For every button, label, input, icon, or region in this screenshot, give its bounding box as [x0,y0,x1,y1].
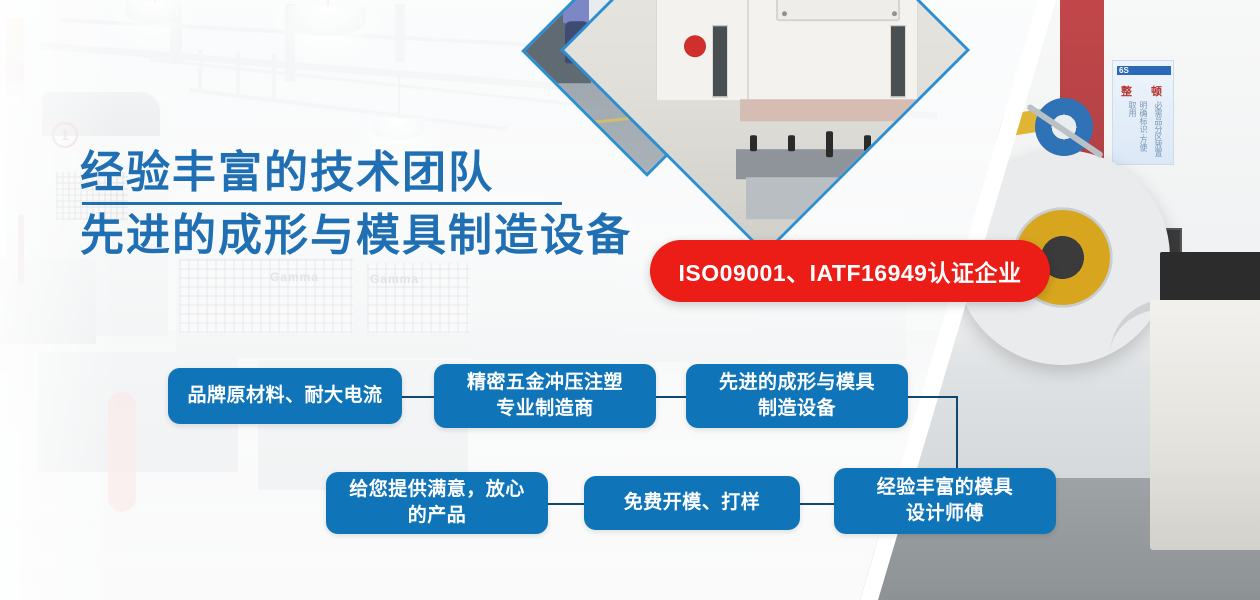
headline-block: 经验丰富的技术团队 先进的成形与模具制造设备 [80,148,632,261]
sign-5s-label: 6S [1119,66,1129,75]
sign-column-1: 明确标识·方便取用 [1127,101,1149,159]
headline-line-1: 经验丰富的技术团队 [80,148,632,198]
die-bolt [750,135,757,151]
sign-head-1: 整 [1121,83,1132,99]
headline-line-2: 先进的成形与模具制造设备 [80,211,632,261]
press-control-plate [776,0,900,21]
plate-bolt [892,11,897,16]
promo-banner: 1 Gamma Gamma 6S 整 顿 明确标识·方便取用 [0,0,1260,600]
press-machine-body [1150,300,1260,550]
connector-box5-box6 [798,503,836,505]
die-bolt [788,135,795,151]
press-column [712,25,728,97]
press-bolster [740,99,926,121]
5s-wall-sign: 6S 整 顿 明确标识·方便取用 必需品分区放置 [1112,60,1174,165]
box-equipment[interactable]: 先进的成形与模具 制造设备 [686,364,908,428]
box-satisfied-product[interactable]: 给您提供满意，放心 的产品 [326,472,548,534]
headline-underline [82,202,562,205]
sign-head-2: 顿 [1151,83,1162,99]
sign-column-2: 必需品分区放置 [1153,101,1164,159]
connector-box4-box5 [546,503,586,505]
plate-bolt [782,11,787,16]
press-column [890,25,906,97]
connector-box2-box3 [654,396,686,398]
die-bolt [826,131,833,157]
die-bolt [864,135,871,151]
worker-person [563,0,589,23]
connector-box1-box2 [400,396,436,398]
connector-box3-right [906,396,958,398]
connector-right-down [956,396,958,468]
box-manufacturer[interactable]: 精密五金冲压注塑 专业制造商 [434,364,656,428]
box-mold-designer[interactable]: 经验丰富的模具 设计师傅 [834,468,1056,534]
background-left-fade [0,0,120,600]
box-free-mold[interactable]: 免费开模、打样 [584,476,800,530]
box-raw-material[interactable]: 品牌原材料、耐大电流 [168,368,402,424]
certification-badge: ISO09001、IATF16949认证企业 [650,240,1050,302]
lower-estop-button [684,35,706,57]
